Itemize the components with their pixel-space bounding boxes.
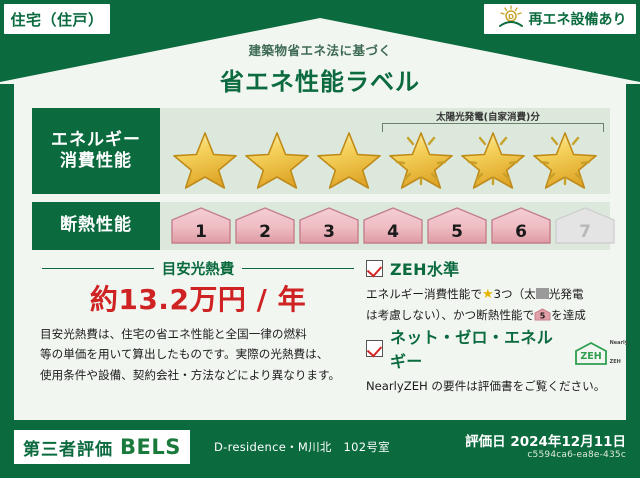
insulation-performance-label: 断熱性能 (32, 202, 160, 250)
subtitle: 建築物省エネ法に基づく (0, 40, 640, 59)
insulation-performance-row: 断熱性能 1 2 3 (32, 202, 610, 250)
insulation-level-house: 5 (426, 206, 488, 246)
zeh-house-icon: ZEH (574, 341, 608, 367)
inline-star-icon: ★ (482, 287, 494, 302)
energy-performance-field: 太陽光発電(自家消費)分 (160, 108, 610, 194)
svg-text:ZEH: ZEH (580, 351, 601, 362)
check-icon-net-zero (366, 340, 383, 357)
star-rating (170, 124, 600, 190)
cost-disclaimer-line-1: 目安光熱費は、住宅の省エネ性能と全国一律の燃料 (40, 324, 356, 344)
zeh-badge-sub1: Nearly (610, 340, 628, 346)
zeh-badge-sub: Nearly ZEH (610, 329, 628, 367)
net-zero-energy-block: ネット・ゼロ・エネルギー ZEH Nearly ZEH NearlyZEH の要… (366, 324, 628, 396)
title-group: 建築物省エネ法に基づく 省エネ性能ラベル (0, 40, 640, 97)
label-body: エネルギー 消費性能 太陽光発電(自家消費)分 (14, 106, 626, 420)
insulation-level-house: 4 (362, 206, 424, 246)
net-zero-heading: ネット・ゼロ・エネルギー ZEH Nearly ZEH (366, 324, 628, 372)
cost-disclaimer: 目安光熱費は、住宅の省エネ性能と全国一律の燃料 等の単価を用いて算出したものです… (40, 324, 356, 385)
svg-text:D: D (508, 13, 514, 21)
cost-rule-right (242, 268, 354, 270)
building-type-label: 住宅（住戸） (10, 9, 103, 30)
inline-house-icon: 5 (534, 308, 551, 321)
insulation-level-house: 7 (554, 206, 616, 246)
building-name: D-residence・M川北 102号室 (214, 439, 390, 455)
cost-disclaimer-line-3: 使用条件や設備、契約会社・方法などにより異なります。 (40, 365, 356, 385)
renewable-energy-tag: D 再エネ設備あり (484, 4, 636, 34)
solar-annotation: 太陽光発電(自家消費)分 (372, 109, 604, 123)
zeh-desc-part-d: は考慮しない）、かつ断熱性能で (366, 308, 534, 322)
zeh-level-description: エネルギー消費性能で★3つ（太光発電は考慮しない）、かつ断熱性能で 5 を達成 (366, 285, 616, 324)
zeh-desc-part-e: を達成 (551, 308, 586, 322)
zeh-desc-part-a: エネルギー消費性能で (366, 287, 482, 301)
energy-performance-label: エネルギー 消費性能 (32, 108, 160, 194)
zeh-level-title: ZEH水準 (390, 256, 459, 280)
zeh-badge-sub2: ZEH (610, 359, 621, 365)
redacted-character (536, 288, 549, 299)
cost-rule-left (42, 268, 154, 270)
insulation-level-house: 6 (490, 206, 552, 246)
bels-en-label: BELS (120, 435, 181, 459)
cost-disclaimer-line-2: 等の単価を用いて算出したものです。実際の光熱費は、 (40, 344, 356, 364)
insulation-scale: 1 2 3 4 (170, 206, 616, 246)
insulation-level-house: 1 (170, 206, 232, 246)
cost-title: 目安光熱費 (162, 258, 235, 279)
star-icon (530, 124, 600, 190)
star-icon (458, 124, 528, 190)
renewable-energy-label: 再エネ設備あり (529, 9, 627, 29)
bels-jp-label: 第三者評価 (23, 435, 113, 460)
net-zero-title: ネット・ゼロ・エネルギー (390, 324, 563, 372)
check-icon-zeh-level (366, 260, 383, 277)
star-icon (386, 124, 456, 190)
building-type-tag: 住宅（住戸） (4, 4, 110, 34)
zeh-logo-badge: ZEH Nearly ZEH (574, 329, 628, 367)
cost-heading: 目安光熱費 (42, 258, 354, 279)
star-icon (314, 124, 384, 190)
insulation-level-house: 3 (298, 206, 360, 246)
evaluation-id: c5594ca6-ea8e-435c (527, 450, 626, 460)
net-zero-description: NearlyZEH の要件は評価書をご覧ください。 (366, 377, 628, 396)
star-icon (170, 124, 240, 190)
sun-renewable-icon: D (498, 5, 524, 33)
star-icon (242, 124, 312, 190)
bels-logo: 第三者評価 BELS (14, 430, 190, 464)
insulation-level-house: 2 (234, 206, 296, 246)
footer-band: 第三者評価 BELS D-residence・M川北 102号室 評価日 202… (0, 420, 640, 478)
svg-text:5: 5 (540, 311, 546, 320)
evaluation-date: 評価日 2024年12月11日 (465, 430, 626, 450)
page-title: 省エネ性能ラベル (0, 62, 640, 97)
zeh-desc-part-b: 3つ（太 (494, 287, 536, 301)
estimated-utility-cost: 約13.2万円 / 年 (42, 278, 354, 318)
energy-performance-row: エネルギー 消費性能 太陽光発電(自家消費)分 (32, 108, 610, 194)
zeh-level-heading: ZEH水準 (366, 256, 616, 280)
zeh-desc-part-c: 光発電 (549, 287, 584, 301)
insulation-performance-field: 1 2 3 4 (160, 202, 610, 250)
zeh-level-block: ZEH水準 エネルギー消費性能で★3つ（太光発電は考慮しない）、かつ断熱性能で … (366, 256, 616, 324)
